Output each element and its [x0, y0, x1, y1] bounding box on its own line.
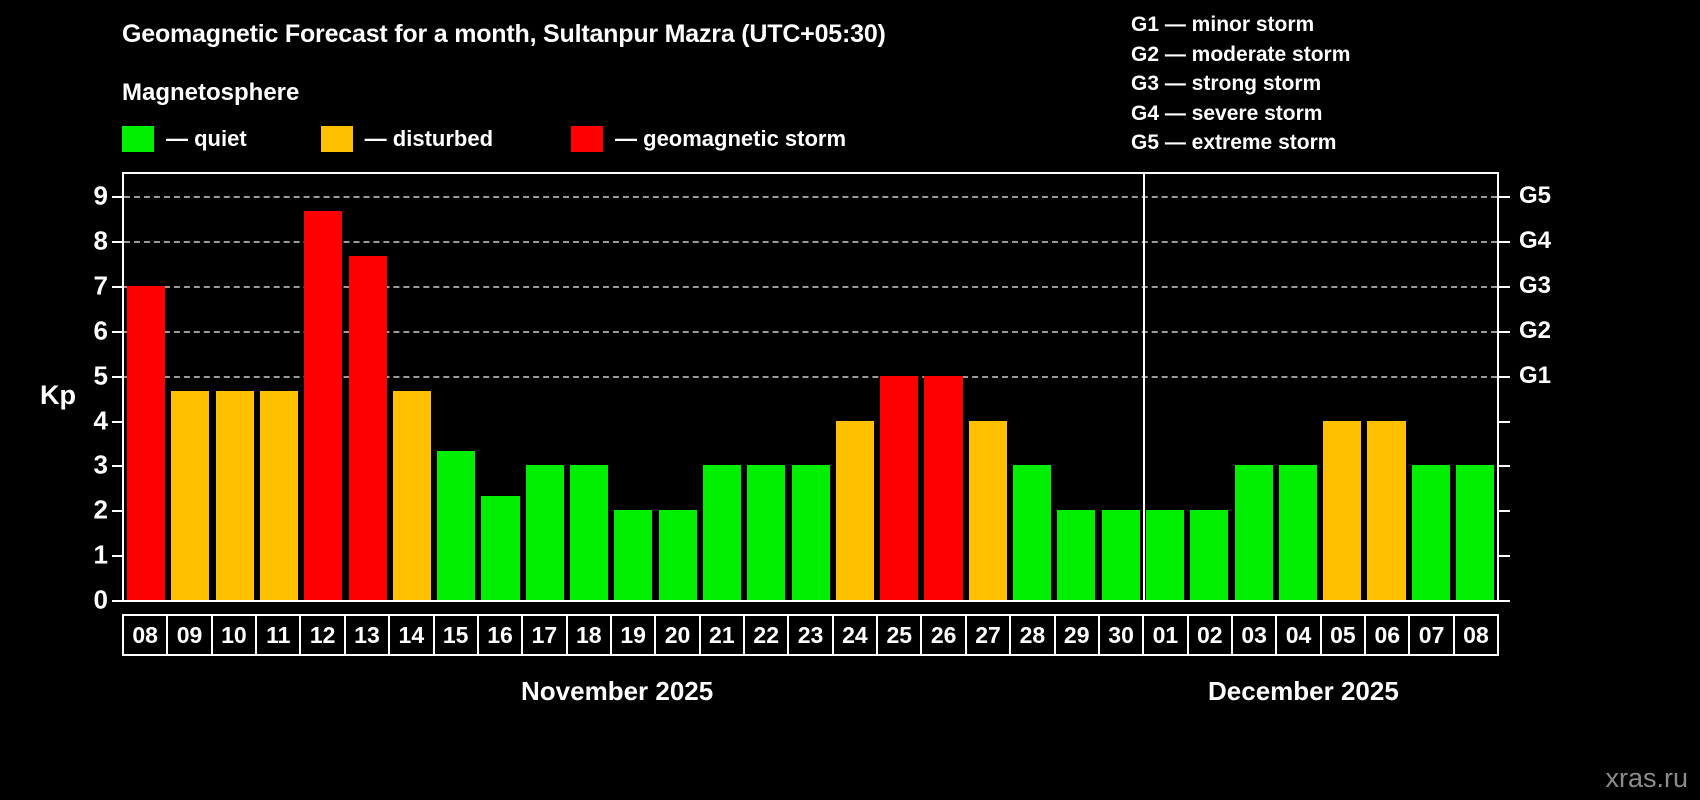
bar-06[interactable] [1367, 421, 1405, 600]
bar-slot[interactable] [478, 174, 522, 600]
y-tick-mark-2 [112, 510, 122, 512]
date-label-18: 18 [568, 616, 612, 654]
g-scale-row-g1: G1 — minor storm [1131, 10, 1350, 40]
g-tick-mark-9 [1499, 196, 1510, 198]
g-tick-mark-0 [1499, 600, 1510, 602]
date-label-07: 07 [1410, 616, 1454, 654]
bar-slot[interactable] [301, 174, 345, 600]
bar-10[interactable] [216, 391, 254, 600]
bar-28[interactable] [1013, 465, 1051, 600]
bar-slot[interactable] [257, 174, 301, 600]
magnetosphere-label: Magnetosphere [122, 79, 299, 107]
y-tick-mark-3 [112, 465, 122, 467]
bar-slot[interactable] [390, 174, 434, 600]
bar-14[interactable] [393, 391, 431, 600]
bar-slot[interactable] [168, 174, 212, 600]
bar-21[interactable] [703, 465, 741, 600]
date-label-25: 25 [878, 616, 922, 654]
date-label-17: 17 [523, 616, 567, 654]
bar-29[interactable] [1057, 510, 1095, 600]
bar-slot[interactable] [1409, 174, 1453, 600]
bar-11[interactable] [260, 391, 298, 600]
date-label-28: 28 [1011, 616, 1055, 654]
x-axis-date-labels: 0809101112131415161718192021222324252627… [122, 614, 1499, 656]
bar-03[interactable] [1235, 465, 1273, 600]
bar-22[interactable] [747, 465, 785, 600]
date-label-26: 26 [922, 616, 966, 654]
date-label-15: 15 [435, 616, 479, 654]
plot-inner [124, 174, 1497, 600]
bar-slot[interactable] [1099, 174, 1143, 600]
g-tick-mark-2 [1499, 510, 1510, 512]
y-tick-label-4: 4 [68, 405, 108, 436]
g-tick-mark-6 [1499, 331, 1510, 333]
y-tick-mark-4 [112, 421, 122, 423]
bar-slot[interactable] [611, 174, 655, 600]
bar-09[interactable] [171, 391, 209, 600]
y-tick-label-7: 7 [68, 271, 108, 302]
bar-slot[interactable] [744, 174, 788, 600]
bar-12[interactable] [304, 211, 342, 600]
date-label-24: 24 [834, 616, 878, 654]
date-label-22: 22 [745, 616, 789, 654]
legend: — quiet — disturbed — geomagnetic storm [122, 124, 846, 154]
y-tick-mark-7 [112, 286, 122, 288]
bar-slot[interactable] [345, 174, 389, 600]
date-label-04: 04 [1277, 616, 1321, 654]
g-tick-label-g1: G1 [1519, 362, 1551, 390]
y-tick-label-9: 9 [68, 181, 108, 212]
legend-label-quiet: — quiet [166, 126, 247, 152]
bar-16[interactable] [481, 496, 519, 600]
bar-slot[interactable] [877, 174, 921, 600]
y-tick-mark-1 [112, 555, 122, 557]
g-tick-mark-5 [1499, 376, 1510, 378]
bar-17[interactable] [526, 465, 564, 600]
y-tick-label-1: 1 [68, 540, 108, 571]
date-label-19: 19 [612, 616, 656, 654]
g-scale-row-g4: G4 — severe storm [1131, 99, 1350, 129]
y-tick-label-6: 6 [68, 315, 108, 346]
bar-01[interactable] [1146, 510, 1184, 600]
y-tick-mark-0 [112, 600, 122, 602]
g-tick-label-g2: G2 [1519, 317, 1551, 345]
bar-slot[interactable] [833, 174, 877, 600]
bar-08[interactable] [1456, 465, 1494, 600]
y-tick-label-3: 3 [68, 450, 108, 481]
date-label-16: 16 [479, 616, 523, 654]
date-label-11: 11 [257, 616, 301, 654]
bar-slot[interactable] [966, 174, 1010, 600]
bar-27[interactable] [969, 421, 1007, 600]
bar-slot[interactable] [213, 174, 257, 600]
date-label-09: 09 [168, 616, 212, 654]
date-label-08: 08 [1455, 616, 1497, 654]
legend-item-quiet: — quiet [122, 126, 247, 152]
g-tick-label-g4: G4 [1519, 227, 1551, 255]
y-tick-label-5: 5 [68, 360, 108, 391]
bar-15[interactable] [437, 451, 475, 600]
bar-26[interactable] [924, 376, 962, 600]
g-scale-row-g3: G3 — strong storm [1131, 69, 1350, 99]
bar-13[interactable] [349, 256, 387, 600]
legend-label-storm: — geomagnetic storm [615, 126, 846, 152]
bar-19[interactable] [614, 510, 652, 600]
g-tick-mark-8 [1499, 241, 1510, 243]
y-tick-label-2: 2 [68, 495, 108, 526]
bar-08[interactable] [127, 286, 165, 600]
bar-slot[interactable] [1320, 174, 1364, 600]
bar-slot[interactable] [656, 174, 700, 600]
g-tick-mark-3 [1499, 465, 1510, 467]
date-label-06: 06 [1366, 616, 1410, 654]
date-label-02: 02 [1189, 616, 1233, 654]
bar-25[interactable] [880, 376, 918, 600]
date-label-27: 27 [967, 616, 1011, 654]
date-label-13: 13 [346, 616, 390, 654]
date-label-21: 21 [701, 616, 745, 654]
bar-slot[interactable] [434, 174, 478, 600]
bar-slot[interactable] [1453, 174, 1497, 600]
quiet-swatch-icon [122, 126, 154, 152]
storm-swatch-icon [571, 126, 603, 152]
date-label-10: 10 [213, 616, 257, 654]
date-label-08: 08 [124, 616, 168, 654]
month-divider [1143, 174, 1145, 600]
bar-24[interactable] [836, 421, 874, 600]
y-tick-mark-5 [112, 376, 122, 378]
date-label-03: 03 [1233, 616, 1277, 654]
bar-02[interactable] [1190, 510, 1228, 600]
date-label-20: 20 [656, 616, 700, 654]
y-tick-label-0: 0 [68, 585, 108, 616]
legend-label-disturbed: — disturbed [365, 126, 493, 152]
legend-item-storm: — geomagnetic storm [571, 126, 846, 152]
bar-series [124, 174, 1497, 600]
date-label-12: 12 [301, 616, 345, 654]
g-tick-label-g3: G3 [1519, 272, 1551, 300]
date-label-29: 29 [1056, 616, 1100, 654]
legend-item-disturbed: — disturbed [321, 126, 493, 152]
g-tick-mark-7 [1499, 286, 1510, 288]
bar-20[interactable] [659, 510, 697, 600]
bar-slot[interactable] [1364, 174, 1408, 600]
bar-slot[interactable] [1054, 174, 1098, 600]
bar-slot[interactable] [1010, 174, 1054, 600]
bar-slot[interactable] [1231, 174, 1275, 600]
bar-30[interactable] [1102, 510, 1140, 600]
watermark: xras.ru [1605, 763, 1688, 794]
date-label-05: 05 [1322, 616, 1366, 654]
bar-slot[interactable] [523, 174, 567, 600]
y-tick-mark-8 [112, 241, 122, 243]
bar-18[interactable] [570, 465, 608, 600]
bar-slot[interactable] [700, 174, 744, 600]
g-scale-legend: G1 — minor storm G2 — moderate storm G3 … [1131, 10, 1350, 158]
y-tick-mark-9 [112, 196, 122, 198]
y-tick-label-8: 8 [68, 226, 108, 257]
disturbed-swatch-icon [321, 126, 353, 152]
bar-slot[interactable] [1187, 174, 1231, 600]
date-label-30: 30 [1100, 616, 1144, 654]
bar-slot[interactable] [1143, 174, 1187, 600]
month-caption-first: November 2025 [521, 676, 713, 707]
bar-07[interactable] [1412, 465, 1450, 600]
bar-slot[interactable] [1276, 174, 1320, 600]
y-tick-mark-6 [112, 331, 122, 333]
bar-slot[interactable] [124, 174, 168, 600]
chart-plot-area [122, 172, 1499, 602]
g-scale-row-g5: G5 — extreme storm [1131, 128, 1350, 158]
bar-23[interactable] [792, 465, 830, 600]
bar-slot[interactable] [921, 174, 965, 600]
bar-slot[interactable] [788, 174, 832, 600]
month-caption-second: December 2025 [1208, 676, 1399, 707]
g-tick-mark-1 [1499, 555, 1510, 557]
g-tick-mark-4 [1499, 421, 1510, 423]
bar-slot[interactable] [567, 174, 611, 600]
bar-05[interactable] [1323, 421, 1361, 600]
date-label-14: 14 [390, 616, 434, 654]
date-label-01: 01 [1144, 616, 1188, 654]
page-title: Geomagnetic Forecast for a month, Sultan… [122, 20, 886, 49]
date-label-23: 23 [789, 616, 833, 654]
g-tick-label-g5: G5 [1519, 182, 1551, 210]
g-scale-row-g2: G2 — moderate storm [1131, 40, 1350, 70]
bar-04[interactable] [1279, 465, 1317, 600]
